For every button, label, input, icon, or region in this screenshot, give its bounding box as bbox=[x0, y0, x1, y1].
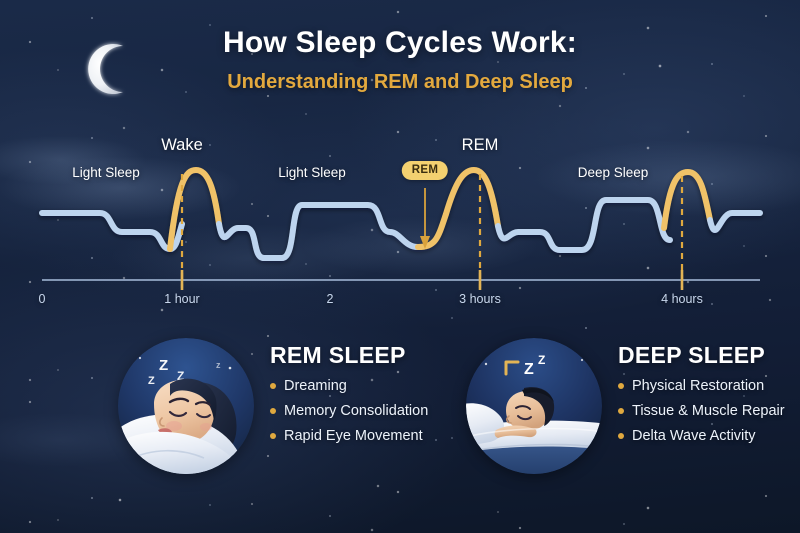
svg-text:Z: Z bbox=[538, 353, 545, 367]
panel-rem-bullet-3: Rapid Eye Movement bbox=[284, 428, 423, 444]
panel-deep-bullet-1: Physical Restoration bbox=[632, 378, 764, 394]
svg-text:Z: Z bbox=[148, 375, 155, 387]
bullet-dot-icon bbox=[618, 408, 624, 414]
curve-segment-light-1 bbox=[42, 213, 182, 249]
sleep-curve-svg bbox=[0, 128, 800, 318]
axis-tick-label-1-hour: 1 hour bbox=[164, 292, 199, 306]
bullet-dot-icon bbox=[270, 433, 276, 439]
list-item: Delta Wave Activity bbox=[618, 428, 785, 444]
list-item: Dreaming bbox=[270, 378, 428, 394]
curve-segment-final-peak bbox=[664, 172, 710, 228]
bullet-dot-icon bbox=[618, 383, 624, 389]
curve-segment-light-2 bbox=[219, 205, 418, 258]
marker-lines bbox=[182, 174, 682, 288]
hypnogram-chart: Light Sleep Wake Light Sleep REM Deep Sl… bbox=[0, 128, 800, 318]
panel-rem-title: REM SLEEP bbox=[270, 342, 428, 369]
axis-tick-label-3-hours: 3 hours bbox=[459, 292, 501, 306]
svg-text:z: z bbox=[216, 360, 221, 370]
svg-text:Z: Z bbox=[159, 357, 168, 374]
chart-label-light-sleep-2: Light Sleep bbox=[278, 165, 346, 180]
page-title: How Sleep Cycles Work: bbox=[0, 26, 800, 60]
sleeping-man-icon: Z Z bbox=[466, 338, 602, 474]
list-item: Physical Restoration bbox=[618, 378, 785, 394]
bullet-dot-icon bbox=[270, 383, 276, 389]
chart-label-deep-sleep: Deep Sleep bbox=[578, 165, 649, 180]
panel-deep-title: DEEP SLEEP bbox=[618, 342, 785, 369]
panel-deep-bullet-3: Delta Wave Activity bbox=[632, 428, 756, 444]
curve-segment-light-4 bbox=[710, 213, 760, 230]
rem-callout-badge: REM bbox=[402, 161, 448, 180]
bullet-dot-icon bbox=[270, 408, 276, 414]
panel-deep-bullet-2: Tissue & Muscle Repair bbox=[632, 403, 785, 419]
panel-rem-bullet-2: Memory Consolidation bbox=[284, 403, 428, 419]
sleep-stage-panels: Z Z Z z bbox=[0, 332, 800, 492]
chart-label-rem: REM bbox=[462, 136, 499, 155]
header: How Sleep Cycles Work: Understanding REM… bbox=[0, 26, 800, 94]
axis-tick-label-4-hours: 4 hours bbox=[661, 292, 703, 306]
axis-tick-label-2: 2 bbox=[327, 292, 334, 306]
axis-tick-label-0: 0 bbox=[39, 292, 46, 306]
panel-rem-bullet-1: Dreaming bbox=[284, 378, 347, 394]
rem-callout-arrow bbox=[420, 188, 430, 249]
panel-rem-sleep: Z Z Z z bbox=[118, 332, 428, 474]
chart-label-wake: Wake bbox=[161, 136, 203, 155]
list-item: Rapid Eye Movement bbox=[270, 428, 428, 444]
panel-deep-sleep: Z Z bbox=[466, 332, 785, 474]
svg-text:Z: Z bbox=[524, 361, 534, 378]
bullet-dot-icon bbox=[618, 433, 624, 439]
list-item: Memory Consolidation bbox=[270, 403, 428, 419]
sleeping-woman-icon: Z Z Z z bbox=[118, 338, 254, 474]
panel-rem-text: REM SLEEP Dreaming Memory Consolidation … bbox=[270, 332, 428, 444]
curve-segment-light-3 bbox=[498, 200, 670, 250]
page-subtitle: Understanding REM and Deep Sleep bbox=[0, 71, 800, 94]
list-item: Tissue & Muscle Repair bbox=[618, 403, 785, 419]
sleep-cycles-infographic: How Sleep Cycles Work: Understanding REM… bbox=[0, 0, 800, 533]
chart-label-light-sleep-1: Light Sleep bbox=[72, 165, 140, 180]
panel-deep-text: DEEP SLEEP Physical Restoration Tissue &… bbox=[618, 332, 785, 444]
curve-segment-rem-peak bbox=[418, 170, 498, 247]
